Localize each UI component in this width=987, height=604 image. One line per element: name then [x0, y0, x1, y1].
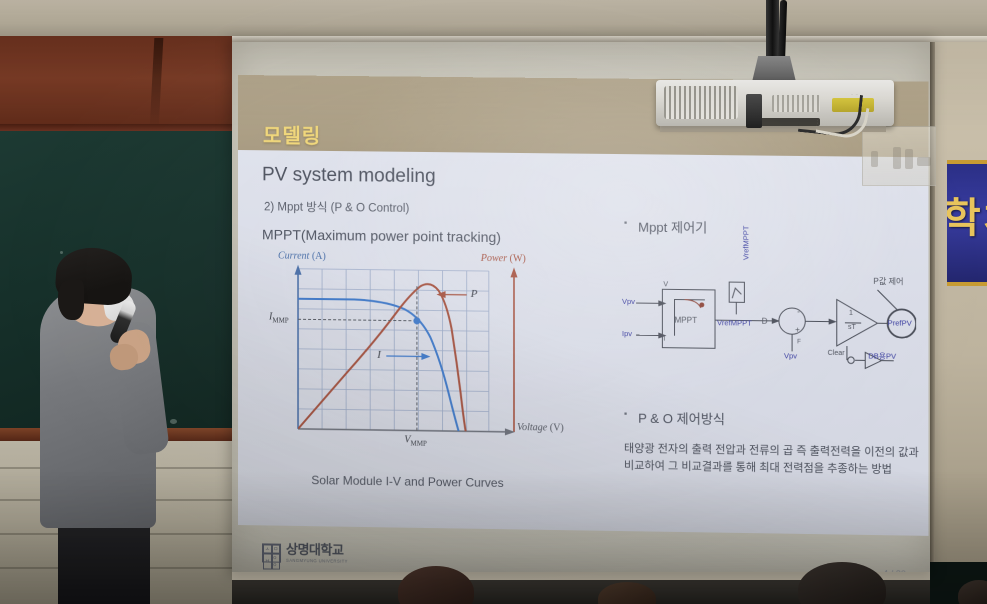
- po-description: 태양광 전자의 출력 전압과 전류의 곱 즉 출력전력을 이전의 값과 비교하여…: [624, 441, 928, 480]
- slide-page-number: 4 / 20: [883, 568, 906, 572]
- right-wall: [930, 42, 987, 562]
- projector-mount-pole: [766, 0, 779, 62]
- slide-body: PV system modeling 2) Mppt 방식 (P & O Con…: [238, 150, 928, 536]
- chart-grid: [298, 269, 489, 432]
- bullet-po-control: P & O 제어방식: [638, 408, 725, 428]
- vmmp-dashed-line: [416, 286, 417, 430]
- lecture-hall-photo: 학ㅈ 모델링 PV system modeling 2) Mppt 방식 (P …: [0, 0, 987, 604]
- label-sum-minus: -: [797, 307, 800, 316]
- slide-heading: PV system modeling: [262, 164, 436, 188]
- label-i-bottom: I: [663, 336, 665, 343]
- label-integrator-numerator: 1: [849, 310, 853, 317]
- label-p-value-control: P값 제어: [873, 276, 903, 287]
- iv-power-chart: Current (A) Power (W) Voltage (V): [258, 250, 569, 470]
- logo-mark-icon: ㅅㅁ ㅂㅇㅇ: [262, 543, 281, 562]
- audience-head-far-right: [958, 580, 987, 604]
- power-label-arrow: [437, 291, 467, 298]
- university-logo: ㅅㅁ ㅂㅇㅇ 상명대학교 SANGMYUNG UNIVERSITY: [262, 542, 348, 563]
- projector-vent: [664, 86, 738, 119]
- label-integrator-denominator: sT: [848, 324, 856, 331]
- wall-banner: 학ㅈ: [947, 160, 987, 286]
- valance-edge: [0, 124, 232, 131]
- current-label-arrow: [386, 352, 430, 360]
- po-description-line2: 비교하여 그 비교결과를 통해 최대 전력점을 추종하는 방법: [624, 460, 892, 476]
- label-vrefmppt-vertical: VrefMPPT: [741, 226, 750, 261]
- logo-korean-name: 상명대학교: [286, 543, 348, 557]
- label-vrefmppt-out: VrefMPPT: [717, 318, 752, 328]
- label-clear: Clear: [828, 350, 845, 357]
- mpp-point-marker: [413, 317, 420, 324]
- label-vpv-in: Vpv: [622, 297, 635, 306]
- slide-section-label: MPPT(Maximum power point tracking): [262, 226, 501, 245]
- label-ipv-in: Ipv: [622, 329, 632, 338]
- label-f-sup: F: [797, 339, 801, 345]
- presenter-legs: [58, 516, 150, 604]
- label-d-input: D: [762, 317, 768, 326]
- chart-caption: Solar Module I-V and Power Curves: [262, 472, 553, 490]
- power-curve-label: P: [471, 288, 478, 300]
- slide-subheading: 2) Mppt 방식 (P & O Control): [264, 198, 409, 216]
- presenter-hair-side: [58, 280, 84, 320]
- label-db-pv: DB용PV: [868, 350, 896, 361]
- projected-slide: 모델링 PV system modeling 2) Mppt 방식 (P & O…: [238, 75, 928, 536]
- label-prefpv-output: PrefPV: [888, 318, 912, 327]
- chart-axis-right: [510, 267, 517, 432]
- projector-arm: [746, 94, 762, 128]
- chart-axis-left: [295, 265, 302, 429]
- label-v-top: V: [663, 281, 668, 288]
- reflected-inset-image: [862, 126, 936, 186]
- mppt-block-diagram: Vpv Ipv V I MPPT VrefMPPT VrefMPPT D - +…: [622, 273, 916, 388]
- projector-mount-bracket: [752, 56, 796, 82]
- wood-valance: [0, 36, 232, 130]
- slide-title: 모델링: [263, 119, 321, 149]
- label-mppt-block: MPPT: [675, 316, 698, 325]
- immp-label: IMMP: [269, 311, 289, 324]
- vmmp-label: VMMP: [404, 434, 427, 447]
- label-sum-plus: +: [795, 325, 800, 334]
- po-description-line1: 태양광 전자의 출력 전압과 전류의 곱 즉 출력전력을 이전의 값과: [624, 443, 919, 459]
- label-vpv-feedback: Vpv: [784, 351, 797, 360]
- bullet-mppt-controller: Mppt 제어기: [638, 217, 707, 237]
- logo-english-name: SANGMYUNG UNIVERSITY: [286, 558, 348, 564]
- current-curve-label: I: [377, 349, 381, 361]
- banner-text: 학ㅈ: [947, 184, 987, 244]
